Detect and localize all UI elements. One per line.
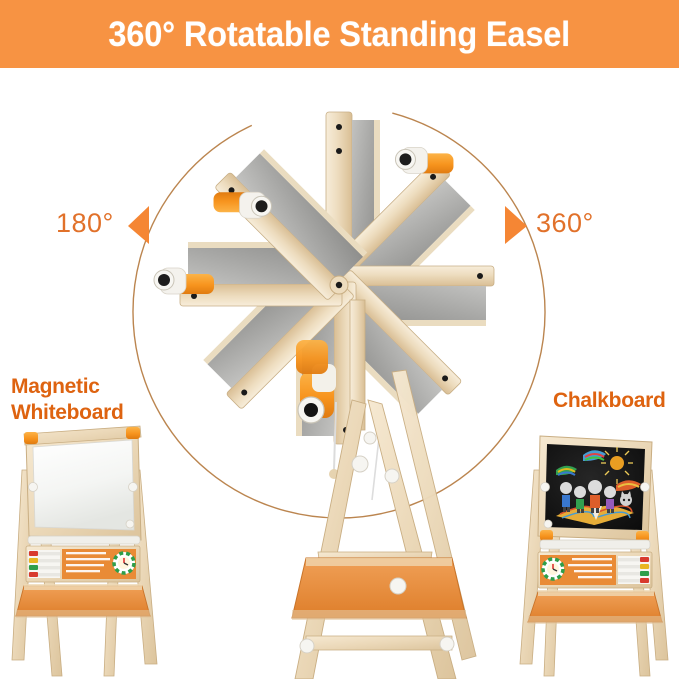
label-chalkboard: Chalkboard bbox=[553, 388, 666, 414]
arrow-left-icon bbox=[128, 206, 149, 244]
arrow-right-icon bbox=[505, 206, 527, 244]
product-infographic: 360° Rotatable Standing Easel 180° 360° … bbox=[0, 0, 679, 679]
abacus-icon bbox=[28, 550, 60, 578]
page-title: 360° Rotatable Standing Easel bbox=[109, 17, 571, 52]
abacus-icon bbox=[618, 556, 650, 584]
header-banner: 360° Rotatable Standing Easel bbox=[0, 0, 679, 68]
left-product-whiteboard-easel bbox=[12, 426, 157, 676]
rotation-label-left: 180° bbox=[56, 208, 114, 239]
right-alphabet-panel bbox=[538, 552, 652, 588]
right-product-chalkboard-easel bbox=[520, 436, 668, 676]
illustration-layer bbox=[0, 0, 679, 679]
label-magnetic-whiteboard: Magnetic Whiteboard bbox=[11, 374, 124, 427]
number-clock-icon bbox=[542, 558, 564, 580]
left-alphabet-panel bbox=[26, 546, 140, 582]
rotation-label-right: 360° bbox=[536, 208, 594, 239]
number-clock-icon bbox=[113, 552, 135, 574]
center-storage-tray bbox=[292, 558, 466, 620]
